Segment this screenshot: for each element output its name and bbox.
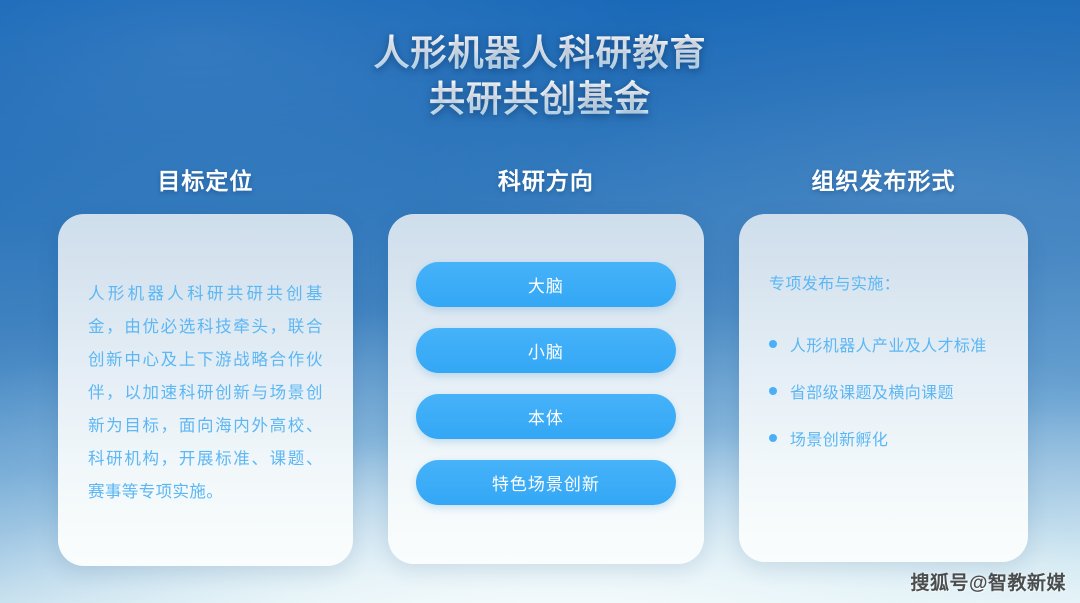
presentation-slide: 人形机器人科研教育 共研共创基金 目标定位 人形机器人科研共研共创基金，由优必选…: [0, 0, 1080, 603]
card-organization-release: 专项发布与实施： 人形机器人产业及人才标准 省部级课题及横向课题 场景创新孵化: [739, 214, 1028, 562]
slide-title: 人形机器人科研教育 共研共创基金: [0, 30, 1080, 122]
slide-title-line-2: 共研共创基金: [0, 76, 1080, 122]
card-objective: 人形机器人科研共研共创基金，由优必选科技牵头，联合创新中心及上下游战略合作伙伴，…: [58, 214, 353, 566]
columns-container: 目标定位 人形机器人科研共研共创基金，由优必选科技牵头，联合创新中心及上下游战略…: [58, 162, 1028, 566]
organization-lead-text: 专项发布与实施：: [769, 272, 998, 298]
column-organization-release: 组织发布形式 专项发布与实施： 人形机器人产业及人才标准 省部级课题及横向课题 …: [739, 162, 1028, 566]
list-item: 人形机器人产业及人才标准: [769, 332, 998, 356]
column-objective: 目标定位 人形机器人科研共研共创基金，由优必选科技牵头，联合创新中心及上下游战略…: [58, 162, 353, 566]
list-item: 省部级课题及横向课题: [769, 379, 998, 403]
pill-cerebellum[interactable]: 小脑: [416, 328, 676, 373]
objective-body-text: 人形机器人科研共研共创基金，由优必选科技牵头，联合创新中心及上下游战略合作伙伴，…: [88, 278, 323, 509]
bullet-label-industry-talent-standard: 人形机器人产业及人才标准: [790, 332, 987, 356]
bullet-dot-icon: [769, 387, 777, 395]
column-research-directions: 科研方向 大脑 小脑 本体 特色场景创新: [388, 162, 704, 566]
column-heading-research-directions: 科研方向: [498, 162, 594, 196]
research-direction-pill-list: 大脑 小脑 本体 特色场景创新: [416, 262, 676, 505]
list-item: 场景创新孵化: [769, 426, 998, 450]
pill-scenario-innovation[interactable]: 特色场景创新: [416, 460, 676, 505]
bullet-dot-icon: [769, 340, 777, 348]
column-heading-organization-release: 组织发布形式: [811, 162, 955, 196]
bullet-label-scenario-incubation: 场景创新孵化: [790, 426, 888, 450]
pill-body[interactable]: 本体: [416, 394, 676, 439]
card-research-directions: 大脑 小脑 本体 特色场景创新: [388, 214, 704, 564]
slide-title-line-1: 人形机器人科研教育: [0, 30, 1080, 76]
watermark: 搜狐号@智教新媒: [910, 568, 1066, 595]
column-heading-objective: 目标定位: [157, 162, 253, 196]
bullet-label-provincial-projects: 省部级课题及横向课题: [790, 379, 954, 403]
pill-brain[interactable]: 大脑: [416, 262, 676, 307]
bullet-dot-icon: [769, 434, 777, 442]
organization-bullet-list: 人形机器人产业及人才标准 省部级课题及横向课题 场景创新孵化: [769, 332, 998, 450]
